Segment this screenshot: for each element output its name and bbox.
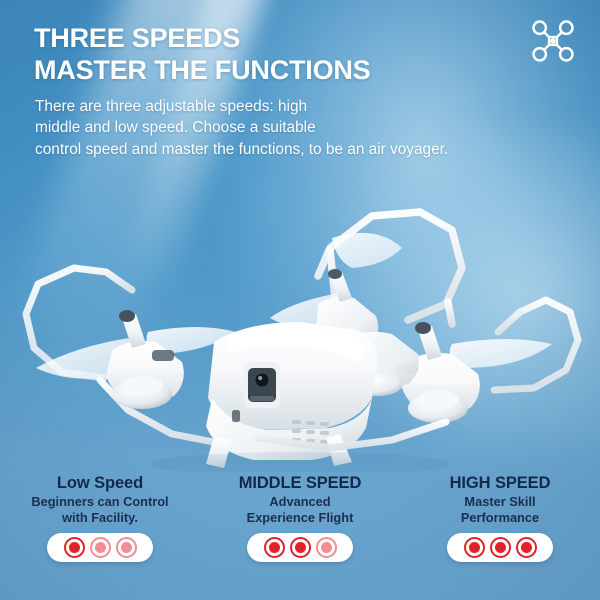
product-infographic-poster: THREE SPEEDS MASTER THE FUNCTIONS There …: [0, 0, 600, 600]
speed-description-middle: Advanced Experience Flight: [247, 494, 354, 526]
drone-quadcopter-icon: [530, 18, 576, 64]
speed-dot-low-3: [116, 537, 137, 558]
header-description: There are three adjustable speeds: high …: [35, 96, 564, 161]
speed-indicator-middle[interactable]: [247, 533, 353, 562]
speed-indicator-high[interactable]: [447, 533, 553, 562]
speed-description-high: Master Skill Performance: [461, 494, 539, 526]
drone-hero-image: [0, 172, 600, 472]
header-block: THREE SPEEDS MASTER THE FUNCTIONS There …: [34, 22, 564, 160]
headline-line-2: MASTER THE FUNCTIONS: [34, 54, 564, 86]
speed-dot-low-1: [64, 537, 85, 558]
speed-dot-middle-3: [316, 537, 337, 558]
speed-desc-high-line-1: Master Skill: [461, 494, 539, 510]
speed-title-low: Low Speed: [57, 474, 143, 492]
subcopy-line-1: There are three adjustable speeds: high: [35, 96, 564, 118]
headline-line-1: THREE SPEEDS: [34, 22, 564, 54]
speed-card-middle: MIDDLE SPEED Advanced Experience Flight: [200, 472, 400, 592]
speed-card-high: HIGH SPEED Master Skill Performance: [400, 472, 600, 592]
speed-desc-low-line-1: Beginners can Control: [31, 494, 168, 510]
speed-desc-low-line-2: with Facility.: [31, 510, 168, 526]
speed-dot-high-1: [464, 537, 485, 558]
speed-desc-middle-line-2: Experience Flight: [247, 510, 354, 526]
speed-dot-high-3: [516, 537, 537, 558]
speed-dot-low-2: [90, 537, 111, 558]
speed-title-high: HIGH SPEED: [450, 474, 551, 492]
speed-desc-middle-line-1: Advanced: [247, 494, 354, 510]
speed-title-middle: MIDDLE SPEED: [239, 474, 362, 492]
speed-dot-middle-2: [290, 537, 311, 558]
speed-card-low: Low Speed Beginners can Control with Fac…: [0, 472, 200, 592]
speed-desc-high-line-2: Performance: [461, 510, 539, 526]
page-title: THREE SPEEDS MASTER THE FUNCTIONS: [34, 22, 564, 87]
speed-description-low: Beginners can Control with Facility.: [31, 494, 168, 526]
subcopy-line-2: middle and low speed. Choose a suitable: [35, 117, 564, 139]
subcopy-line-3: control speed and master the functions, …: [35, 139, 564, 161]
speed-indicator-low[interactable]: [47, 533, 153, 562]
speed-dot-middle-1: [264, 537, 285, 558]
speed-levels-row: Low Speed Beginners can Control with Fac…: [0, 472, 600, 592]
speed-dot-high-2: [490, 537, 511, 558]
